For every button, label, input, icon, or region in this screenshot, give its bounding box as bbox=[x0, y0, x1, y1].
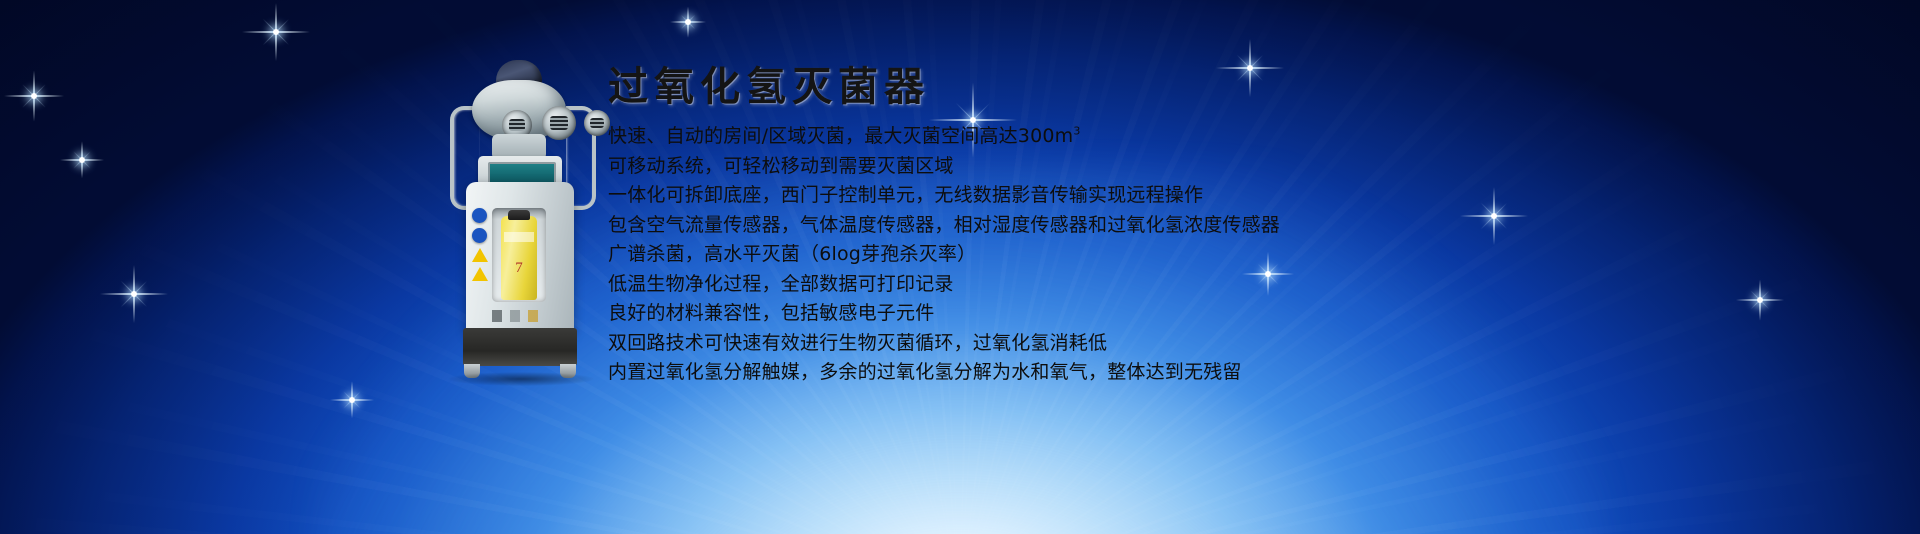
feature-text: 可移动系统，可轻松移动到需要灭菌区域 bbox=[608, 155, 954, 177]
product-nozzle-center-icon bbox=[542, 106, 576, 140]
feature-superscript: 3 bbox=[1073, 125, 1080, 138]
feature-list-item: 快速、自动的房间/区域灭菌，最大灭菌空间高达300m3 bbox=[608, 122, 1788, 152]
product-nozzle-right-icon bbox=[584, 110, 610, 136]
product-base bbox=[463, 328, 577, 366]
feature-text: 低温生物净化过程，全部数据可打印记录 bbox=[608, 273, 954, 295]
warning-triangle-icon-1 bbox=[472, 248, 488, 262]
feature-list: 快速、自动的房间/区域灭菌，最大灭菌空间高达300m3可移动系统，可轻松移动到需… bbox=[608, 122, 1788, 388]
feature-text: 一体化可拆卸底座，西门子控制单元，无线数据影音传输实现远程操作 bbox=[608, 184, 1203, 206]
product-label-icon-2 bbox=[472, 228, 487, 243]
product-label-icon-1 bbox=[472, 208, 487, 223]
feature-list-item: 一体化可拆卸底座，西门子控制单元，无线数据影音传输实现远程操作 bbox=[608, 181, 1788, 211]
feature-text: 良好的材料兼容性，包括敏感电子元件 bbox=[608, 302, 934, 324]
headline-title: 过氧化氢灭菌器 bbox=[608, 66, 1788, 108]
product-body: 7 bbox=[466, 182, 574, 334]
product-head bbox=[472, 80, 566, 140]
feature-list-item: 可移动系统，可轻松移动到需要灭菌区域 bbox=[608, 152, 1788, 182]
feature-text: 快速、自动的房间/区域灭菌，最大灭菌空间高达300m bbox=[608, 125, 1073, 147]
product-bottle-window: 7 bbox=[492, 208, 546, 302]
bottle-cap bbox=[508, 210, 530, 220]
feature-text: 内置过氧化氢分解触媒，多余的过氧化氢分解为水和氧气，整体达到无残留 bbox=[608, 361, 1242, 383]
feature-text: 包含空气流量传感器，气体温度传感器，相对湿度传感器和过氧化氢浓度传感器 bbox=[608, 214, 1280, 236]
feature-list-item: 双回路技术可快速有效进行生物灭菌循环，过氧化氢消耗低 bbox=[608, 329, 1788, 359]
feature-list-item: 良好的材料兼容性，包括敏感电子元件 bbox=[608, 299, 1788, 329]
product-image: 7 bbox=[430, 60, 610, 380]
feature-list-item: 低温生物净化过程，全部数据可打印记录 bbox=[608, 270, 1788, 300]
bottle-number: 7 bbox=[501, 260, 537, 277]
product-warning-labels bbox=[472, 208, 490, 286]
feature-list-item: 广谱杀菌，高水平灭菌（6log芽孢杀灭率） bbox=[608, 240, 1788, 270]
feature-list-item: 包含空气流量传感器，气体温度传感器，相对湿度传感器和过氧化氢浓度传感器 bbox=[608, 211, 1788, 241]
warning-triangle-icon-2 bbox=[472, 267, 488, 281]
product-display-screen bbox=[488, 162, 556, 184]
feature-text: 双回路技术可快速有效进行生物灭菌循环，过氧化氢消耗低 bbox=[608, 332, 1107, 354]
product-shadow bbox=[448, 372, 594, 386]
product-peroxide-bottle: 7 bbox=[501, 216, 537, 300]
product-lower-controls bbox=[492, 310, 548, 322]
promo-banner: 7 过氧化氢灭菌器 快速、自动的房间/区域灭菌，最大灭菌空间高达300m3可移动… bbox=[0, 0, 1920, 534]
bottle-label bbox=[504, 232, 534, 242]
feature-text: 广谱杀菌，高水平灭菌（6log芽孢杀灭率） bbox=[608, 243, 976, 265]
copy-block: 过氧化氢灭菌器 快速、自动的房间/区域灭菌，最大灭菌空间高达300m3可移动系统… bbox=[608, 66, 1788, 388]
feature-list-item: 内置过氧化氢分解触媒，多余的过氧化氢分解为水和氧气，整体达到无残留 bbox=[608, 358, 1788, 388]
